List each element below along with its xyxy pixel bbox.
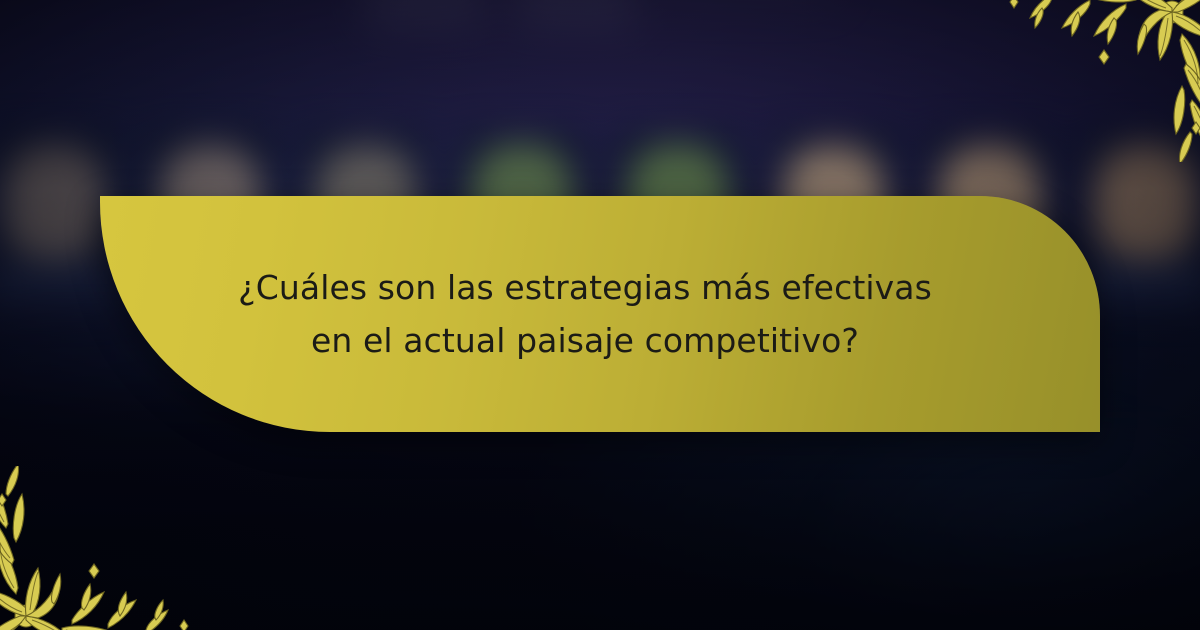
question-text: ¿Cuáles son las estrategias más efectiva… (100, 261, 1100, 368)
share-card-canvas: ¿Cuáles son las estrategias más efectiva… (0, 0, 1200, 630)
question-banner: ¿Cuáles son las estrategias más efectiva… (100, 196, 1100, 432)
